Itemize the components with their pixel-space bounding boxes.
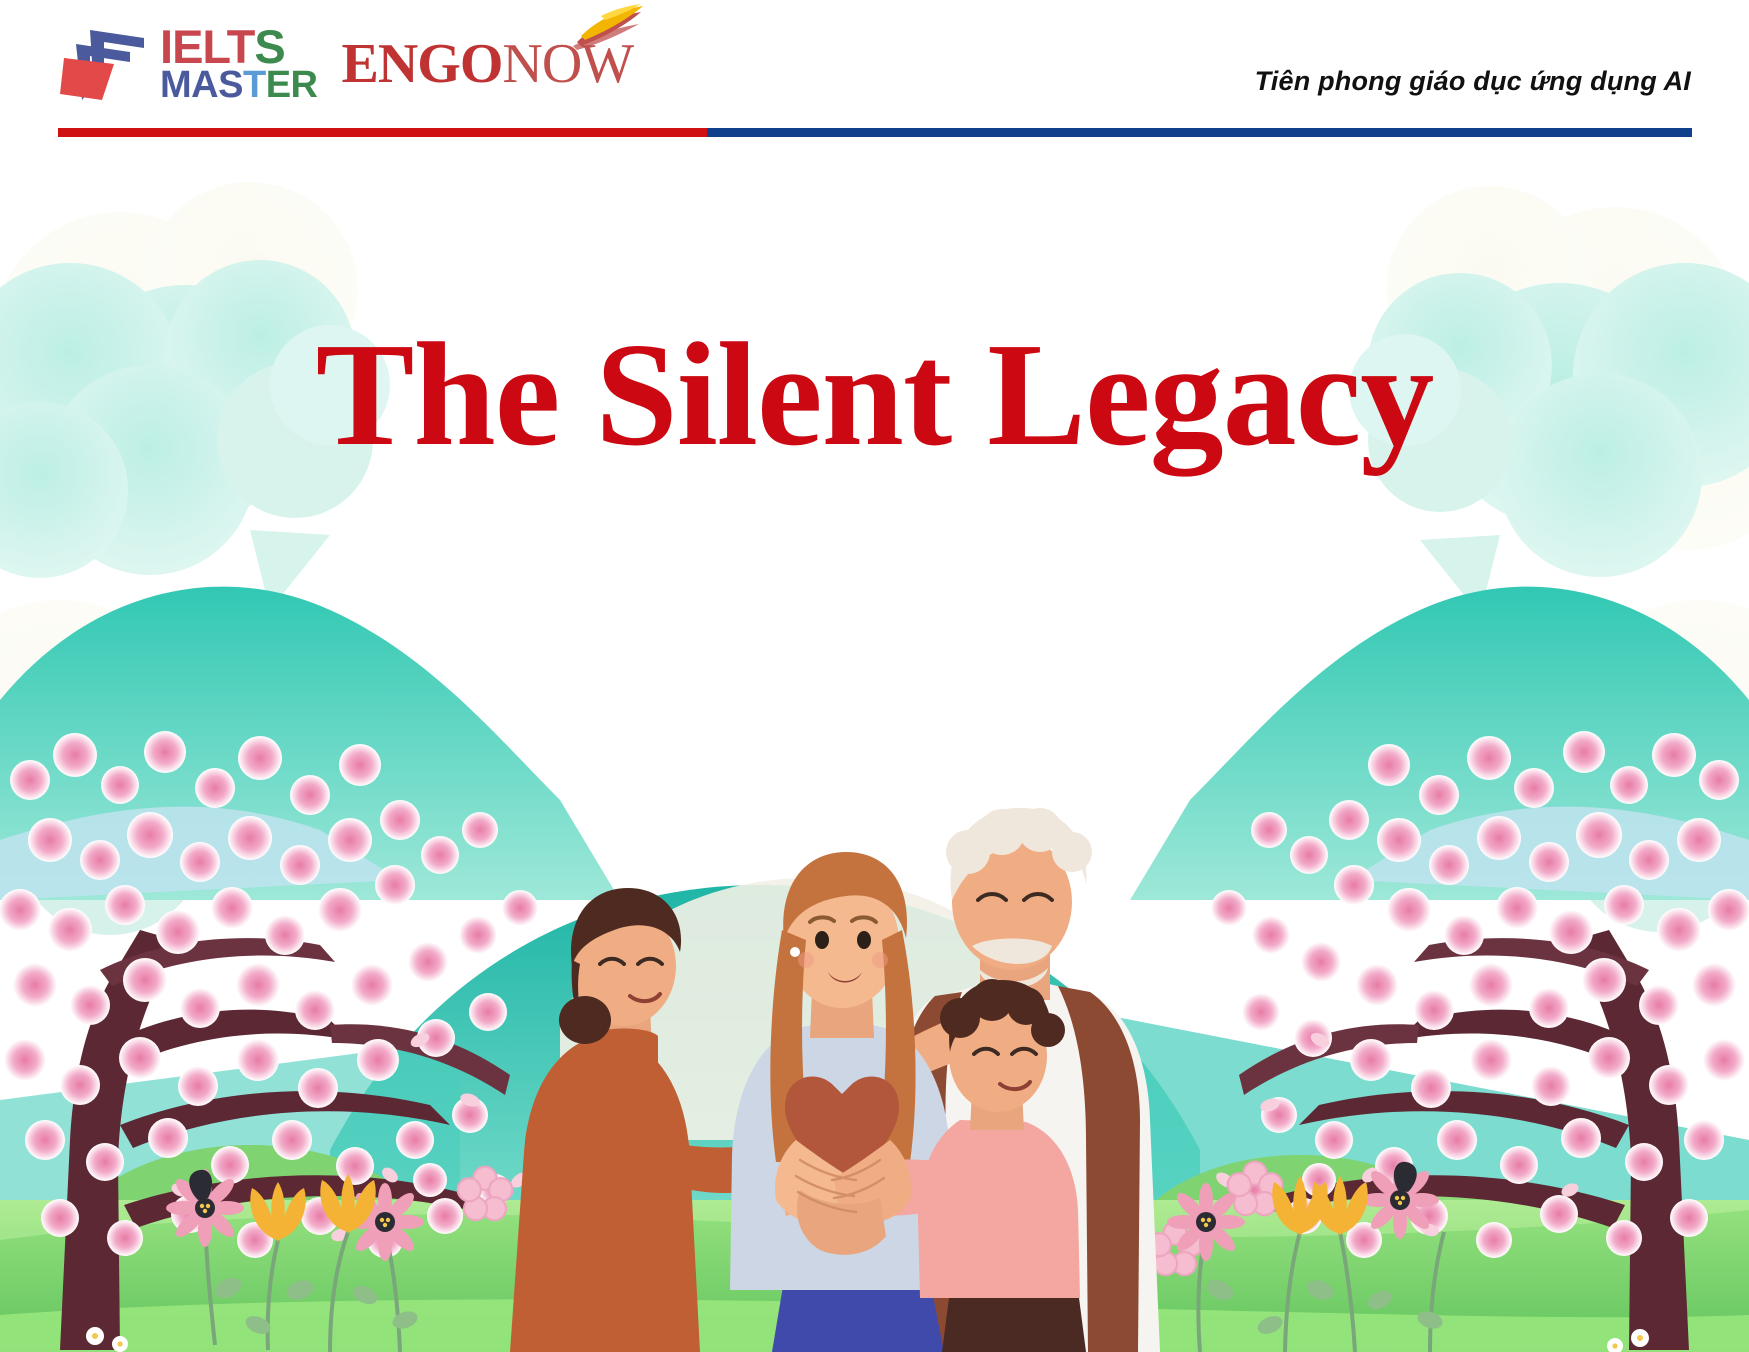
engo-bold: ENGO [342,33,503,95]
logo-group: IELTS MASTER ENGONOW [60,24,633,104]
engonow-logo[interactable]: ENGONOW [342,36,634,92]
header-bar: IELTS MASTER ENGONOW [0,0,1749,140]
page-title: The Silent Legacy [0,318,1749,473]
ielts-word: IELTS [160,25,318,68]
slide-root: The Silent Legacy IELTS MASTER [0,0,1749,1352]
book-stack-icon [60,24,150,104]
ielts-master-wordmark: IELTS MASTER [160,25,318,103]
divider-blue-segment [707,128,1692,137]
master-word: MASTER [160,68,318,103]
open-book-flame-icon [571,2,647,52]
header-divider [58,128,1692,137]
ielts-master-logo[interactable]: IELTS MASTER [60,24,318,104]
header-tagline: Tiên phong giáo dục ứng dụng AI [1255,66,1691,97]
divider-red-segment [58,128,707,137]
